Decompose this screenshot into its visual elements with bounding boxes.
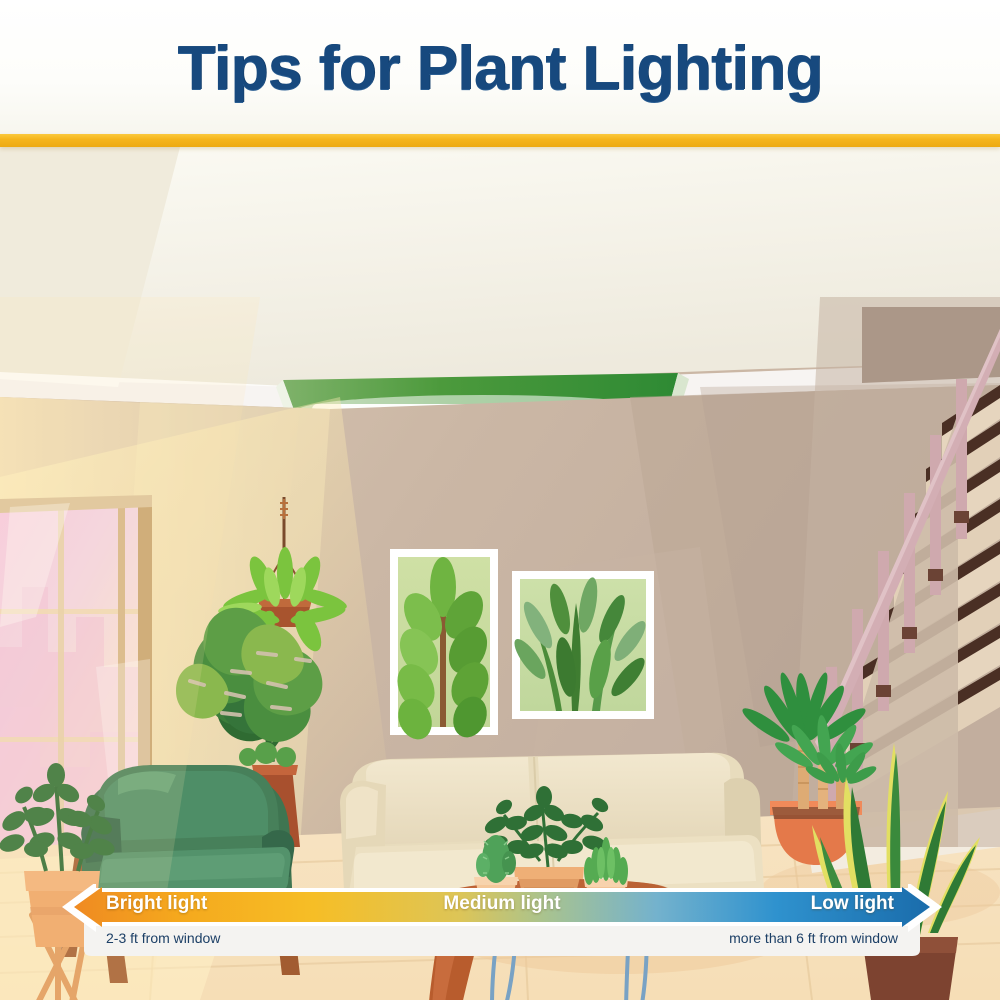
legend-caption-bright: 2-3 ft from window — [106, 930, 220, 946]
header-banner: Tips for Plant Lighting — [0, 0, 1000, 136]
wall-art-left — [390, 549, 498, 744]
legend-caption-low: more than 6 ft from window — [729, 930, 898, 946]
light-level-scale: Bright light Medium light Low light 2-3 … — [62, 884, 942, 956]
infographic-page: Tips for Plant Lighting — [0, 0, 1000, 1000]
page-title: Tips for Plant Lighting — [177, 33, 822, 104]
legend-label-group: Bright light Medium light Low light 2-3 … — [62, 884, 942, 924]
wall-art-right — [509, 571, 654, 719]
accent-divider-bar — [0, 134, 1000, 147]
living-room-illustration — [0, 147, 1000, 1000]
legend-label-low: Low light — [811, 893, 894, 915]
